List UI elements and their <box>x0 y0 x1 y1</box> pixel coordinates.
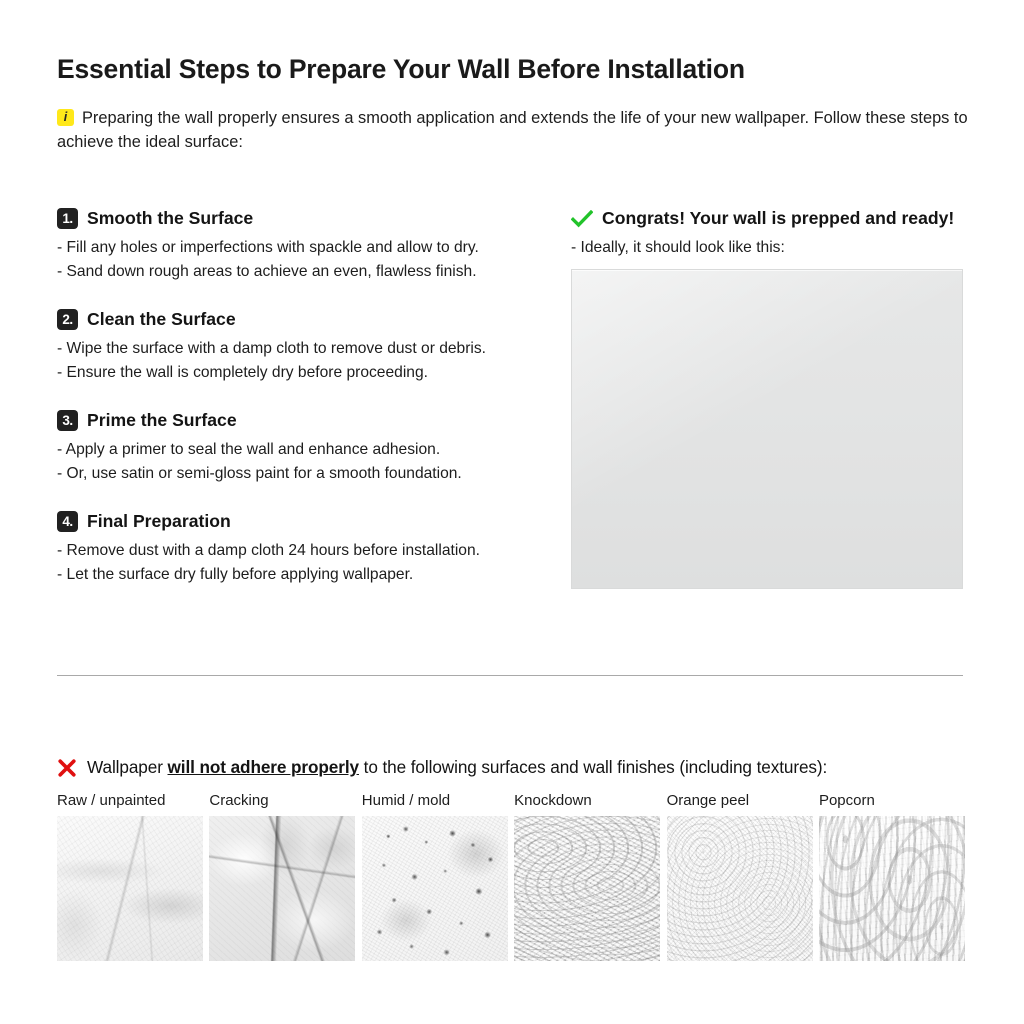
thumbnail-item: Raw / unpainted <box>57 792 203 961</box>
thumbnail-caption: Humid / mold <box>362 792 508 809</box>
success-title: Congrats! Your wall is prepped and ready… <box>602 208 954 229</box>
warning-text: Wallpaper will not adhere properly to th… <box>87 757 827 778</box>
surface-thumbnails: Raw / unpainted Cracking Humid / mold Kn… <box>57 792 963 961</box>
thumbnail-caption: Knockdown <box>514 792 660 809</box>
thumbnail-caption: Popcorn <box>819 792 965 809</box>
thumbnail-caption: Orange peel <box>667 792 813 809</box>
thumbnail-item: Humid / mold <box>362 792 508 961</box>
step-item: 4. Final Preparation - Remove dust with … <box>57 511 557 586</box>
warning-suffix: to the following surfaces and wall finis… <box>359 757 827 777</box>
step-header: 3. Prime the Surface <box>57 410 557 431</box>
step-number-badge: 2. <box>57 309 78 330</box>
warning-row: Wallpaper will not adhere properly to th… <box>57 757 972 778</box>
step-line: - Remove dust with a damp cloth 24 hours… <box>57 539 557 563</box>
intro-paragraph: iPreparing the wall properly ensures a s… <box>57 106 972 154</box>
step-line: - Or, use satin or semi-gloss paint for … <box>57 462 557 486</box>
page-title: Essential Steps to Prepare Your Wall Bef… <box>57 54 745 85</box>
step-title: Final Preparation <box>87 511 231 532</box>
raw-unpainted-texture <box>57 816 203 961</box>
thumbnail-caption: Raw / unpainted <box>57 792 203 809</box>
success-header: Congrats! Your wall is prepped and ready… <box>571 208 963 229</box>
humid-mold-texture <box>362 816 508 961</box>
step-title: Smooth the Surface <box>87 208 253 229</box>
thumbnail-item: Popcorn <box>819 792 965 961</box>
smooth-wall-preview <box>571 269 963 589</box>
step-header: 2. Clean the Surface <box>57 309 557 330</box>
thumbnail-item: Orange peel <box>667 792 813 961</box>
intro-text: Preparing the wall properly ensures a sm… <box>57 109 968 151</box>
orange-peel-texture <box>667 816 813 961</box>
success-panel: Congrats! Your wall is prepped and ready… <box>571 208 963 589</box>
step-line: - Fill any holes or imperfections with s… <box>57 236 557 260</box>
x-icon <box>57 758 77 778</box>
knockdown-texture <box>514 816 660 961</box>
thumbnail-item: Knockdown <box>514 792 660 961</box>
success-subtitle: - Ideally, it should look like this: <box>571 236 963 260</box>
info-icon: i <box>57 109 74 126</box>
warning-prefix: Wallpaper <box>87 757 168 777</box>
section-divider <box>57 675 963 676</box>
step-header: 1. Smooth the Surface <box>57 208 557 229</box>
step-number-badge: 3. <box>57 410 78 431</box>
step-item: 3. Prime the Surface - Apply a primer to… <box>57 410 557 485</box>
step-line: - Apply a primer to seal the wall and en… <box>57 438 557 462</box>
cracking-paint-texture <box>209 816 355 961</box>
step-item: 2. Clean the Surface - Wipe the surface … <box>57 309 557 384</box>
warning-emphasis: will not adhere properly <box>168 757 359 777</box>
thumbnail-item: Cracking <box>209 792 355 961</box>
popcorn-texture <box>819 816 965 961</box>
step-line: - Sand down rough areas to achieve an ev… <box>57 260 557 284</box>
step-line: - Ensure the wall is completely dry befo… <box>57 361 557 385</box>
step-item: 1. Smooth the Surface - Fill any holes o… <box>57 208 557 283</box>
wall-preparation-guide: Essential Steps to Prepare Your Wall Bef… <box>0 0 1024 1024</box>
step-line: - Wipe the surface with a damp cloth to … <box>57 337 557 361</box>
step-line: - Let the surface dry fully before apply… <box>57 563 557 587</box>
step-title: Prime the Surface <box>87 410 237 431</box>
step-number-badge: 1. <box>57 208 78 229</box>
step-header: 4. Final Preparation <box>57 511 557 532</box>
check-icon <box>571 210 593 228</box>
steps-list: 1. Smooth the Surface - Fill any holes o… <box>57 208 557 586</box>
step-number-badge: 4. <box>57 511 78 532</box>
thumbnail-caption: Cracking <box>209 792 355 809</box>
step-title: Clean the Surface <box>87 309 236 330</box>
